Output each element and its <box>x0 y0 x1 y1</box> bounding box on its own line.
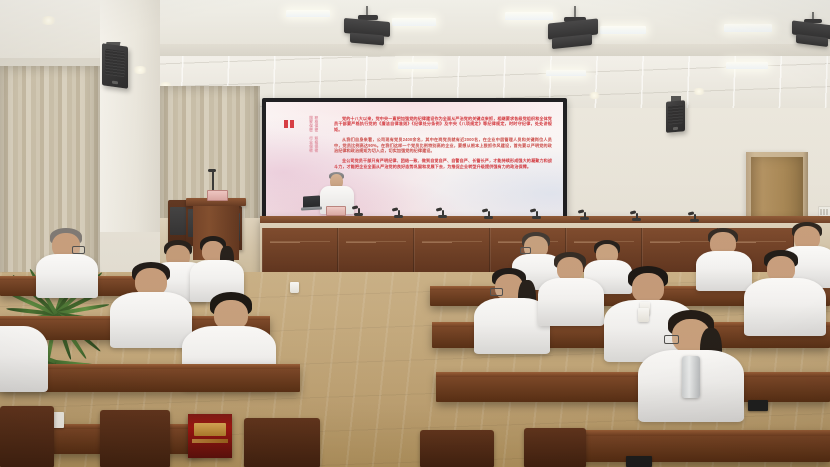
thermos <box>682 356 700 398</box>
plant-fronds-low <box>56 360 57 361</box>
ceiling-panel-light <box>726 62 768 69</box>
ceiling-soffit-face <box>152 44 830 56</box>
slide-paragraph: 党的十八大以来，党中央一直把加强党的纪律建设作为全面从严治党的关键点来抓，相继要… <box>334 116 552 132</box>
plant-fronds <box>56 312 57 313</box>
phone <box>748 400 768 411</box>
head-table-panel <box>262 228 338 272</box>
banner-text <box>192 439 229 443</box>
chair-back[interactable] <box>0 406 54 467</box>
slide-paragraph: 全公司党员干部只有严明纪律、团结一致、做到自觉自严、自警自严、长管长严，才能持续… <box>334 158 552 169</box>
chair-back[interactable] <box>420 430 494 467</box>
table-microphone-icon <box>392 208 404 218</box>
head-table-panel <box>338 228 414 272</box>
wall-speaker <box>102 43 128 89</box>
banner-emblem <box>194 423 226 436</box>
ceiling-downlight <box>132 66 148 74</box>
slide-vertical-title-col: 国家保密 行业保密 <box>309 116 313 192</box>
left-ceiling-bulkhead <box>0 0 100 60</box>
ceiling-panel-light <box>600 26 646 34</box>
paper-cup <box>638 308 649 322</box>
stage-light <box>548 6 600 54</box>
chair-back[interactable] <box>244 418 320 467</box>
ceiling-panel-light <box>392 18 436 26</box>
red-chair-banner <box>188 414 232 458</box>
desk-row <box>560 430 830 462</box>
meeting-room-photo: 国家保密 行业保密 积极保密 积极保密 党的十八大以来，党中央一直把加强党的纪律… <box>0 0 830 467</box>
stage-side-chair[interactable] <box>168 200 188 244</box>
table-microphone-icon <box>530 209 542 219</box>
table-microphone-icon <box>436 208 448 218</box>
ceiling-panel-light <box>546 70 586 76</box>
ceiling-panel-light <box>724 24 772 32</box>
table-microphone-icon <box>688 212 700 222</box>
stage-light <box>344 6 392 50</box>
stage-light <box>792 12 830 52</box>
slide-paragraph: 从我们自身来看，公司现有党员2400余名，其中在岗党员就有近2000名，在企业中… <box>334 137 552 153</box>
ceiling-panel-light <box>286 10 330 17</box>
table-microphone-icon <box>482 209 494 219</box>
wall-speaker <box>666 100 685 133</box>
head-table-panel <box>414 228 490 272</box>
podium-microphone-stem <box>212 172 214 190</box>
chair-back[interactable] <box>100 410 170 467</box>
slide-body: 党的十八大以来，党中央一直把加强党的纪律建设作为全面从严治党的关键点来抓，相继要… <box>334 116 552 174</box>
ceiling-downlight <box>692 88 706 95</box>
ceiling-downlight <box>588 92 601 99</box>
paper-cup <box>290 282 299 293</box>
table-microphone-icon <box>630 211 642 221</box>
head-table-top <box>260 216 830 223</box>
ceiling-soffit <box>152 0 830 46</box>
phone[interactable] <box>626 456 652 467</box>
slide-vertical-title: 国家保密 行业保密 积极保密 积极保密 <box>306 116 322 192</box>
wall-column <box>100 0 160 232</box>
red-quote-mark-icon <box>284 120 295 128</box>
ceiling-panel-light <box>505 12 553 20</box>
podium-nameplate <box>207 190 228 201</box>
slide-vertical-title-col: 积极保密 积极保密 <box>315 116 319 192</box>
chair-back[interactable] <box>524 428 586 467</box>
ceiling-downlight <box>40 16 57 25</box>
ceiling-panel-light <box>398 62 438 69</box>
table-microphone-icon <box>578 210 590 220</box>
desk-row <box>436 372 830 402</box>
table-microphone-icon <box>352 206 364 216</box>
head-table-nameplate <box>326 206 346 216</box>
